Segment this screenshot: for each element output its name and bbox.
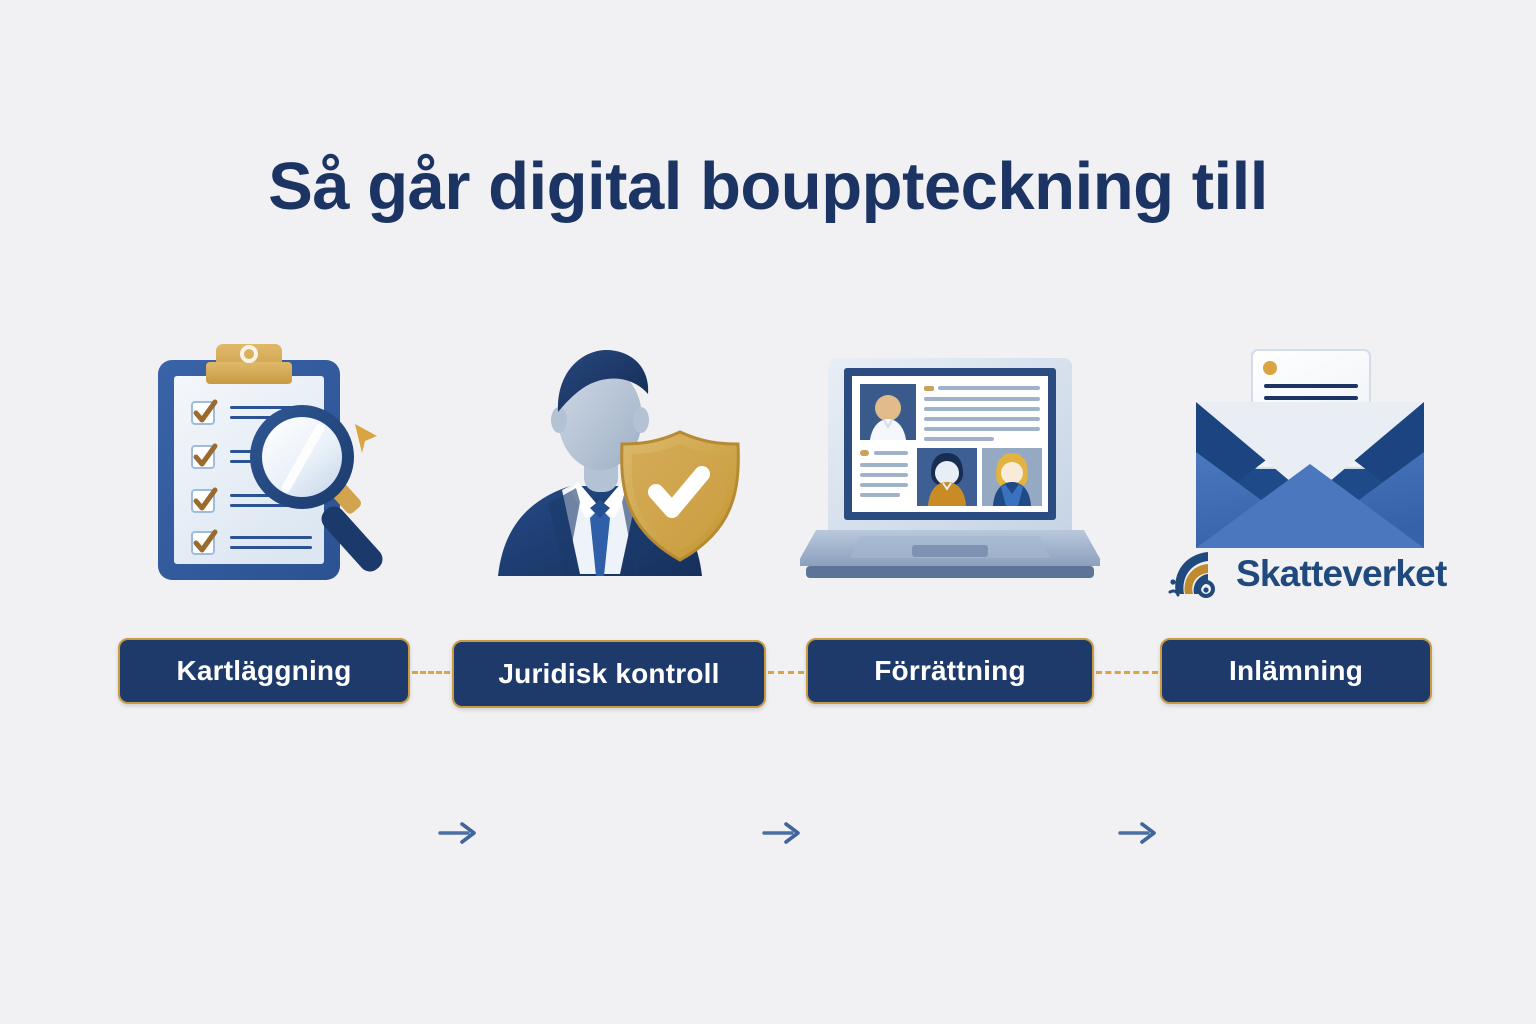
step-pill-juridisk-kontroll[interactable]: Juridisk kontroll: [452, 640, 766, 708]
step-3-illustration: [800, 340, 1100, 610]
step-pill-forrattning[interactable]: Förrättning: [806, 638, 1094, 704]
step-connector-dashed: [768, 671, 804, 674]
step-pill-label: Juridisk kontroll: [498, 658, 719, 690]
step-1-illustration: [150, 340, 450, 610]
step-pill-label: Kartläggning: [176, 655, 351, 687]
step-pill-kartlaggning[interactable]: Kartläggning: [118, 638, 410, 704]
step-connector-dashed: [1096, 671, 1158, 674]
arrow-right-icon: [438, 820, 478, 846]
step-connector-dashed: [412, 671, 450, 674]
step-label-row: Kartläggning Juridisk kontroll Förrättni…: [0, 638, 1536, 710]
skatteverket-wordmark: Skatteverket: [1236, 553, 1447, 595]
step-2-illustration: [480, 340, 760, 610]
step-pill-label: Förrättning: [874, 655, 1026, 687]
page-title: Så går digital bouppteckning till: [0, 148, 1536, 225]
laptop-video-meeting-icon: [800, 340, 1100, 610]
step-pill-inlamning[interactable]: Inlämning: [1160, 638, 1432, 704]
step-pill-label: Inlämning: [1229, 655, 1363, 687]
skatteverket-swirl-icon: [1168, 548, 1226, 600]
arrow-right-icon: [1118, 820, 1158, 846]
skatteverket-logo: Skatteverket: [1168, 546, 1448, 602]
businessman-shield-check-icon: [480, 340, 760, 610]
clipboard-checklist-magnifier-icon: [150, 340, 450, 610]
arrow-right-icon: [762, 820, 802, 846]
